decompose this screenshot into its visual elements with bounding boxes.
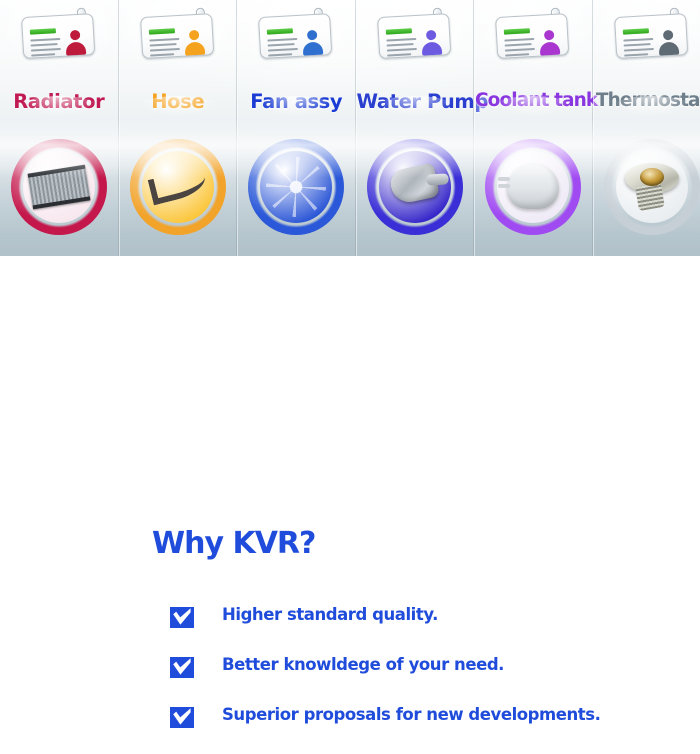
product-orb (11, 139, 107, 235)
badge-card (377, 13, 451, 59)
badge-card (614, 13, 688, 59)
benefit-text: Superior proposals for new developments. (222, 704, 600, 725)
person-icon (657, 30, 679, 56)
badge-card (21, 13, 95, 59)
page-title: Why KVR? (152, 529, 315, 559)
badge-green-bar (386, 28, 412, 34)
product-orb (604, 139, 700, 235)
check-box-icon (170, 607, 194, 628)
product-column-pump[interactable]: Water Pump (356, 0, 475, 256)
person-icon (64, 30, 86, 56)
id-card-icon (613, 7, 690, 59)
product-column-tank[interactable]: Coolant tank (474, 0, 593, 256)
orb-reflection (19, 96, 99, 118)
id-card-icon (139, 7, 216, 59)
person-icon (538, 30, 560, 56)
badge-green-bar (504, 28, 530, 34)
product-orb (367, 139, 463, 235)
benefit-text: Better knowldege of your need. (222, 654, 504, 675)
id-card-icon (258, 7, 335, 59)
id-card-icon (20, 7, 97, 59)
hose-image (147, 167, 208, 206)
badge-card (258, 13, 332, 59)
product-column-list: RadiatorHoseFan assyWater PumpCoolant ta… (0, 0, 700, 256)
product-orb (485, 139, 581, 235)
why-section: Why KVR? Higher standard quality.Better … (0, 256, 700, 500)
product-column-radiator[interactable]: Radiator (0, 0, 119, 256)
product-orb (130, 139, 226, 235)
fan-image (266, 157, 326, 217)
badge-green-bar (267, 28, 293, 34)
benefit-text: Higher standard quality. (222, 604, 438, 625)
check-box-icon (170, 657, 194, 678)
person-icon (301, 30, 323, 56)
orb-reflection (493, 96, 573, 118)
check-box-icon (170, 707, 194, 728)
list-item: Higher standard quality. (170, 604, 690, 654)
radiator-image (27, 165, 90, 210)
water-pump-image (388, 163, 440, 206)
thermostat-image (625, 159, 679, 213)
product-column-fan[interactable]: Fan assy (237, 0, 356, 256)
badge-card (495, 13, 569, 59)
coolant-tank-image (507, 163, 559, 209)
orb-reflection (375, 96, 455, 118)
badge-green-bar (149, 28, 175, 34)
orb-reflection (256, 96, 336, 118)
list-item: Superior proposals for new developments. (170, 704, 690, 754)
product-banner: RadiatorHoseFan assyWater PumpCoolant ta… (0, 0, 700, 256)
id-card-icon (376, 7, 453, 59)
person-icon (183, 30, 205, 56)
product-column-thermostat[interactable]: Thermostat (593, 0, 700, 256)
list-item: Better knowldege of your need. (170, 654, 690, 704)
person-icon (420, 30, 442, 56)
orb-reflection (612, 96, 692, 118)
badge-green-bar (30, 28, 56, 34)
product-orb (248, 139, 344, 235)
benefits-list: Higher standard quality.Better knowldege… (170, 604, 690, 754)
badge-card (140, 13, 214, 59)
orb-reflection (138, 96, 218, 118)
id-card-icon (495, 7, 572, 59)
badge-green-bar (623, 28, 649, 34)
product-column-hose[interactable]: Hose (119, 0, 238, 256)
